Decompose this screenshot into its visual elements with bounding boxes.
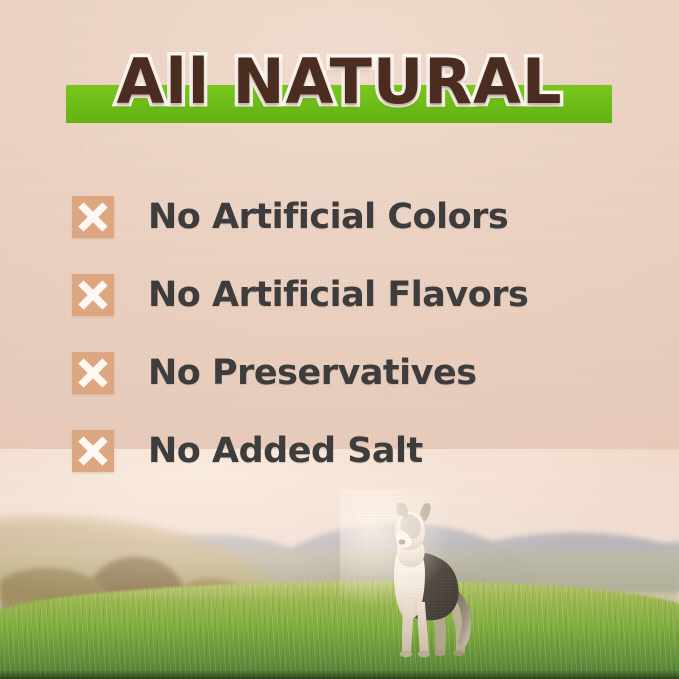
benefit-item: No Artificial Colors xyxy=(72,178,632,256)
benefit-label: No Preservatives xyxy=(148,353,477,393)
x-mark-icon xyxy=(72,274,114,316)
benefit-item: No Artificial Flavors xyxy=(72,256,632,334)
benefit-list: No Artificial Colors No Artificial Flavo… xyxy=(72,178,632,490)
x-mark-icon xyxy=(72,430,114,472)
photo-bottom-edge xyxy=(0,670,679,679)
dog-figure xyxy=(358,503,476,665)
grass-texture-layer xyxy=(0,581,679,679)
x-mark-icon xyxy=(72,352,114,394)
headline-title: All NATURAL xyxy=(0,48,679,114)
benefit-label: No Artificial Colors xyxy=(148,197,508,237)
benefit-item: No Preservatives xyxy=(72,334,632,412)
benefit-label: No Added Salt xyxy=(148,431,423,471)
product-feature-poster: All NATURAL No Artificial Colors No Arti… xyxy=(0,0,679,679)
benefit-item: No Added Salt xyxy=(72,412,632,490)
x-mark-icon xyxy=(72,196,114,238)
benefit-label: No Artificial Flavors xyxy=(148,275,528,315)
